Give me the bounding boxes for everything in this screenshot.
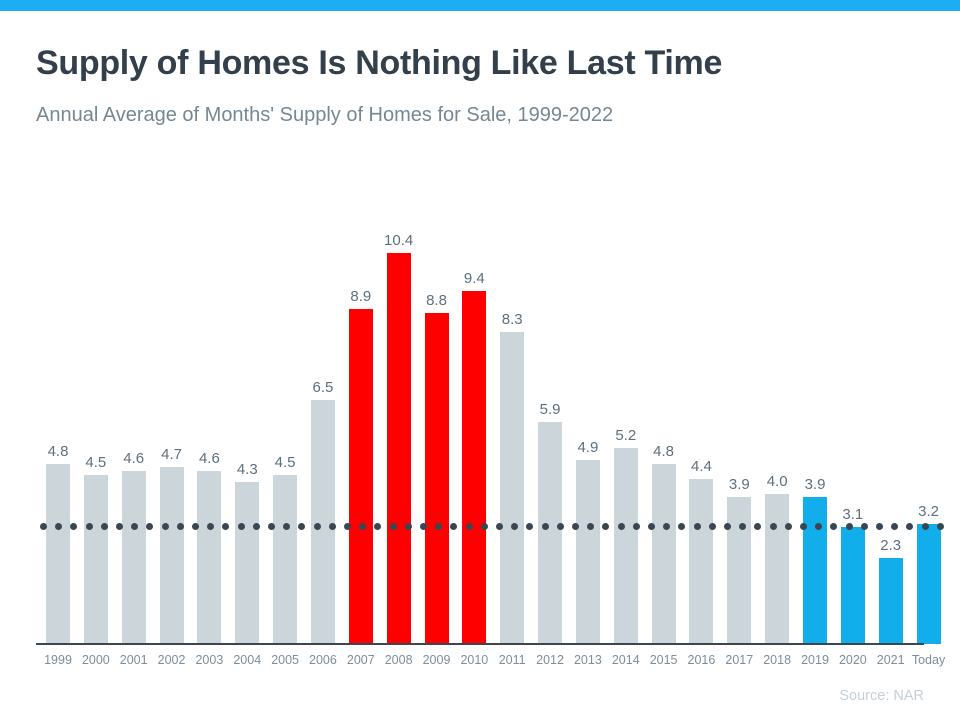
reference-line-dot [390, 523, 397, 530]
reference-line-dot [40, 523, 47, 530]
bar[interactable] [689, 479, 713, 644]
bar[interactable] [273, 475, 297, 644]
reference-line-dot [55, 523, 62, 530]
bar[interactable] [917, 524, 941, 644]
reference-line-dot [678, 523, 685, 530]
reference-line-dot [374, 523, 381, 530]
bar-group: 4.02018 [765, 494, 789, 644]
reference-line-dot [648, 523, 655, 530]
reference-line-dot [162, 523, 169, 530]
bar-group: 4.62001 [122, 471, 146, 644]
reference-line-dot [785, 523, 792, 530]
bar[interactable] [652, 464, 676, 644]
bar-group: 4.32004 [235, 482, 259, 644]
bar[interactable] [462, 291, 486, 644]
reference-line-dot [572, 523, 579, 530]
reference-line-dot [481, 523, 488, 530]
reference-line-dot [694, 523, 701, 530]
bar-group: 9.42010 [462, 291, 486, 644]
bar-group: 8.92007 [349, 309, 373, 644]
bar[interactable] [576, 460, 600, 644]
reference-line-dot [587, 523, 594, 530]
reference-line-dot [70, 523, 77, 530]
bar[interactable] [500, 332, 524, 644]
reference-line-dot [207, 523, 214, 530]
bar-value-label: 4.5 [255, 454, 315, 471]
bar-group: 4.81999 [46, 464, 70, 644]
bar-value-label: 5.9 [520, 401, 580, 418]
reference-line-dot [238, 523, 245, 530]
bar-group: 10.42008 [387, 253, 411, 644]
bar-group: 4.52005 [273, 475, 297, 644]
bar[interactable] [879, 558, 903, 644]
reference-line-dot [450, 523, 457, 530]
bar-value-label: 8.8 [407, 292, 467, 309]
bar-group: 4.62003 [197, 471, 221, 644]
reference-line-dot [906, 523, 913, 530]
reference-line-dot [709, 523, 716, 530]
reference-line-dot [739, 523, 746, 530]
x-axis-tick-label: Today [899, 653, 959, 667]
bar-value-label: 9.4 [444, 270, 504, 287]
bar-value-label: 2.3 [861, 537, 921, 554]
bar-group: 8.32011 [500, 332, 524, 644]
reference-line-dot [253, 523, 260, 530]
bar-value-label: 8.9 [331, 288, 391, 305]
reference-line-dot [602, 523, 609, 530]
reference-line-dot [922, 523, 929, 530]
bar-group: 8.82009 [425, 313, 449, 644]
reference-dotted-line [40, 523, 939, 530]
reference-line-dot [131, 523, 138, 530]
bar[interactable] [122, 471, 146, 644]
bar[interactable] [197, 471, 221, 644]
bar[interactable] [84, 475, 108, 644]
reference-line-dot [770, 523, 777, 530]
bar[interactable] [160, 467, 184, 644]
reference-line-dot [222, 523, 229, 530]
reference-line-dot [526, 523, 533, 530]
reference-line-dot [101, 523, 108, 530]
reference-line-dot [618, 523, 625, 530]
reference-line-dot [177, 523, 184, 530]
bar-value-label: 10.4 [369, 232, 429, 249]
bar-group: 3.2Today [917, 524, 941, 644]
bar[interactable] [614, 448, 638, 644]
reference-line-dot [542, 523, 549, 530]
reference-line-dot [268, 523, 275, 530]
reference-line-dot [359, 523, 366, 530]
bar[interactable] [425, 313, 449, 644]
bar-group: 5.22014 [614, 448, 638, 644]
reference-line-dot [846, 523, 853, 530]
bar-value-label: 8.3 [482, 311, 542, 328]
x-axis-line [36, 643, 924, 645]
bar-group: 4.82015 [652, 464, 676, 644]
reference-line-dot [329, 523, 336, 530]
reference-line-dot [146, 523, 153, 530]
reference-line-dot [815, 523, 822, 530]
bar[interactable] [311, 400, 335, 644]
reference-line-dot [314, 523, 321, 530]
bar-value-label: 3.1 [823, 506, 883, 523]
bar-group: 4.92013 [576, 460, 600, 644]
bar-group: 2.32021 [879, 558, 903, 644]
reference-line-dot [511, 523, 518, 530]
bar-group: 6.52006 [311, 400, 335, 644]
reference-line-dot [283, 523, 290, 530]
bar-group: 4.52000 [84, 475, 108, 644]
source-note: Source: NAR [839, 688, 924, 704]
reference-line-dot [466, 523, 473, 530]
bar-chart-plot-area: 4.819994.520004.620014.720024.620034.320… [0, 0, 960, 720]
bar-value-label: 6.5 [293, 379, 353, 396]
reference-line-dot [405, 523, 412, 530]
reference-line-dot [861, 523, 868, 530]
bar-value-label: 4.4 [671, 458, 731, 475]
bar[interactable] [765, 494, 789, 644]
reference-line-dot [298, 523, 305, 530]
reference-line-dot [633, 523, 640, 530]
reference-line-dot [663, 523, 670, 530]
reference-line-dot [496, 523, 503, 530]
bar-value-label: 3.9 [785, 476, 845, 493]
bar-value-label: 3.2 [899, 503, 959, 520]
reference-line-dot [876, 523, 883, 530]
reference-line-dot [830, 523, 837, 530]
reference-line-dot [435, 523, 442, 530]
bar[interactable] [349, 309, 373, 644]
bar-group: 4.72002 [160, 467, 184, 644]
bar[interactable] [727, 497, 751, 644]
reference-line-dot [937, 523, 944, 530]
bar-group: 4.42016 [689, 479, 713, 644]
bar[interactable] [46, 464, 70, 644]
reference-line-dot [420, 523, 427, 530]
bar-group: 3.92017 [727, 497, 751, 644]
reference-line-dot [724, 523, 731, 530]
reference-line-dot [754, 523, 761, 530]
reference-line-dot [800, 523, 807, 530]
reference-line-dot [86, 523, 93, 530]
reference-line-dot [557, 523, 564, 530]
bar[interactable] [387, 253, 411, 644]
bar[interactable] [235, 482, 259, 644]
reference-line-dot [344, 523, 351, 530]
reference-line-dot [116, 523, 123, 530]
reference-line-dot [891, 523, 898, 530]
reference-line-dot [192, 523, 199, 530]
